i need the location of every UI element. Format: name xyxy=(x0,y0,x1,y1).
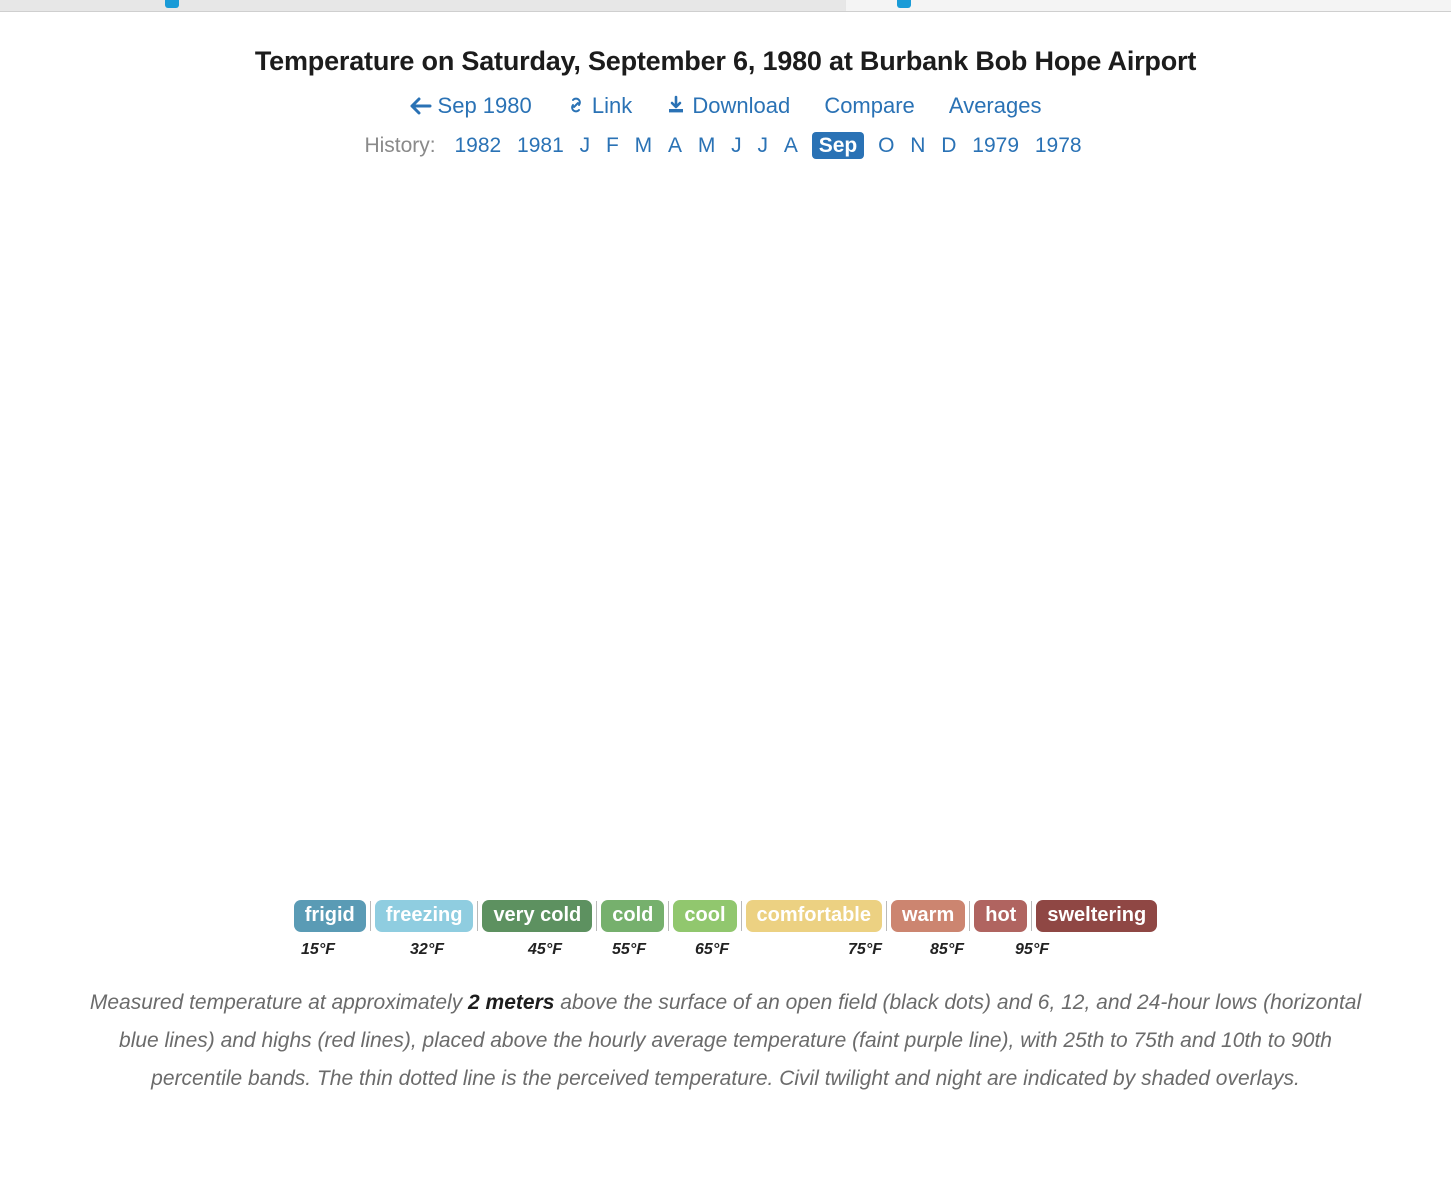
caption-line4: dotted line is the perceived temperature… xyxy=(399,1067,1300,1090)
history-item-1979[interactable]: 1979 xyxy=(972,134,1019,157)
legend-chip-cold[interactable]: cold xyxy=(601,900,664,932)
caption-line1-a: Measured temperature at approximately xyxy=(90,991,468,1014)
legend-chip-warm[interactable]: warm xyxy=(891,900,965,932)
legend-chip-hot[interactable]: hot xyxy=(974,900,1027,932)
history-item-mar[interactable]: M xyxy=(635,134,653,157)
page-title: Temperature on Saturday, September 6, 19… xyxy=(0,46,1451,77)
history-item-1978[interactable]: 1978 xyxy=(1035,134,1082,157)
history-item-dec[interactable]: D xyxy=(941,134,956,157)
legend-chip-cool[interactable]: cool xyxy=(673,900,736,932)
history-item-jul[interactable]: J xyxy=(758,134,769,157)
temperature-chart[interactable] xyxy=(0,168,1451,908)
history-item-aug[interactable]: A xyxy=(784,134,798,157)
scale-tick-85: 85°F xyxy=(930,941,964,959)
scale-tick-55: 55°F xyxy=(612,941,646,959)
globe-icon xyxy=(897,0,911,8)
scale-tick-75: 75°F xyxy=(848,941,882,959)
legend-chip-frigid[interactable]: frigid xyxy=(294,900,366,932)
download-icon xyxy=(666,95,686,115)
history-item-1981[interactable]: 1981 xyxy=(517,134,564,157)
history-item-jan[interactable]: J xyxy=(580,134,591,157)
legend-separator xyxy=(596,901,597,931)
comfort-scale-ticks: 15°F32°F45°F55°F65°F75°F85°F95°F xyxy=(0,941,1451,967)
plot-background xyxy=(146,223,1243,831)
nav-compare[interactable]: Compare xyxy=(824,93,914,119)
history-item-1982[interactable]: 1982 xyxy=(454,134,501,157)
history-bar: History: 1982 1981 J F M A M J J A Sep O… xyxy=(0,134,1451,158)
legend-separator xyxy=(668,901,669,931)
chart-caption: Measured temperature at approximately 2 … xyxy=(78,984,1373,1099)
browser-tab-strip xyxy=(0,0,1451,12)
legend-chip-very-cold[interactable]: very cold xyxy=(482,900,592,932)
nav-prev-month-label: Sep 1980 xyxy=(438,93,532,118)
nav-link-label: Link xyxy=(592,93,632,118)
legend-separator xyxy=(477,901,478,931)
history-item-feb[interactable]: F xyxy=(606,134,619,157)
legend-separator xyxy=(886,901,887,931)
browser-tab-active[interactable] xyxy=(0,0,845,11)
nav-link[interactable]: Link xyxy=(566,93,632,119)
history-item-jun[interactable]: J xyxy=(731,134,742,157)
nav-averages[interactable]: Averages xyxy=(949,93,1042,119)
caption-emphasis: 2 meters xyxy=(468,991,554,1014)
scale-tick-45: 45°F xyxy=(528,941,562,959)
arrow-left-icon xyxy=(410,97,432,115)
nav-download-label: Download xyxy=(692,93,790,118)
history-item-nov[interactable]: N xyxy=(910,134,925,157)
legend-chip-sweltering[interactable]: sweltering xyxy=(1036,900,1157,932)
chart-nav-bar: Sep 1980 Link Download Compare Averages xyxy=(0,93,1451,119)
legend-separator xyxy=(370,901,371,931)
nav-prev-month[interactable]: Sep 1980 xyxy=(410,93,532,119)
scale-tick-15: 15°F xyxy=(301,941,335,959)
caption-line1-c: above the surface of an open field (blac… xyxy=(554,991,991,1014)
scale-tick-65: 65°F xyxy=(695,941,729,959)
history-item-sep[interactable]: Sep xyxy=(812,132,865,159)
scale-tick-32: 32°F xyxy=(410,941,444,959)
link-icon xyxy=(566,95,586,115)
comfort-legend: frigidfreezingvery coldcoldcoolcomfortab… xyxy=(0,900,1451,932)
history-label: History: xyxy=(364,134,435,157)
temperature-chart-svg[interactable] xyxy=(0,168,1451,908)
legend-chip-freezing[interactable]: freezing xyxy=(375,900,474,932)
scale-tick-95: 95°F xyxy=(1015,941,1049,959)
legend-separator xyxy=(969,901,970,931)
browser-tab-inactive[interactable] xyxy=(846,0,1451,11)
legend-separator xyxy=(1031,901,1032,931)
history-item-oct[interactable]: O xyxy=(878,134,894,157)
legend-separator xyxy=(741,901,742,931)
nav-download[interactable]: Download xyxy=(666,93,790,119)
history-item-apr[interactable]: A xyxy=(668,134,682,157)
legend-chip-comfortable[interactable]: comfortable xyxy=(746,900,882,932)
history-item-may[interactable]: M xyxy=(698,134,716,157)
globe-icon xyxy=(165,0,179,8)
